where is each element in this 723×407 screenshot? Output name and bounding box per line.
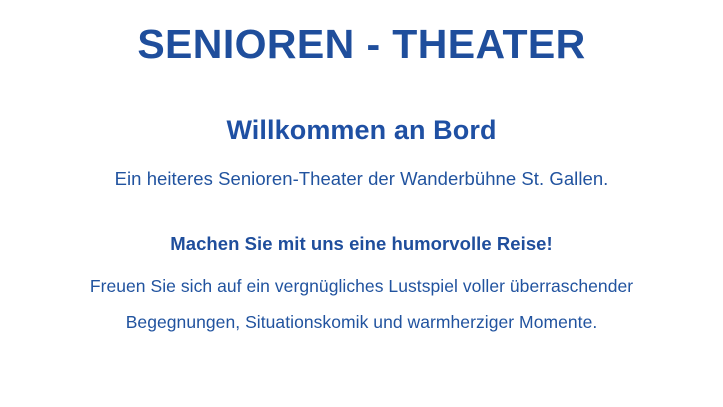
page-title: SENIOREN - THEATER: [0, 24, 723, 65]
welcome-headline: Willkommen an Bord: [0, 117, 723, 144]
company-subtitle: Ein heiteres Senioren-Theater der Wander…: [0, 170, 723, 189]
bottom-whitespace: [0, 345, 723, 407]
body-text-line-2: Begegnungen, Situationskomik und warmher…: [0, 314, 723, 332]
invitation-headline: Machen Sie mit uns eine humorvolle Reise…: [0, 235, 723, 254]
poster-canvas: SENIOREN - THEATER Willkommen an Bord Ei…: [0, 0, 723, 407]
body-text-line-1: Freuen Sie sich auf ein vergnügliches Lu…: [0, 278, 723, 296]
